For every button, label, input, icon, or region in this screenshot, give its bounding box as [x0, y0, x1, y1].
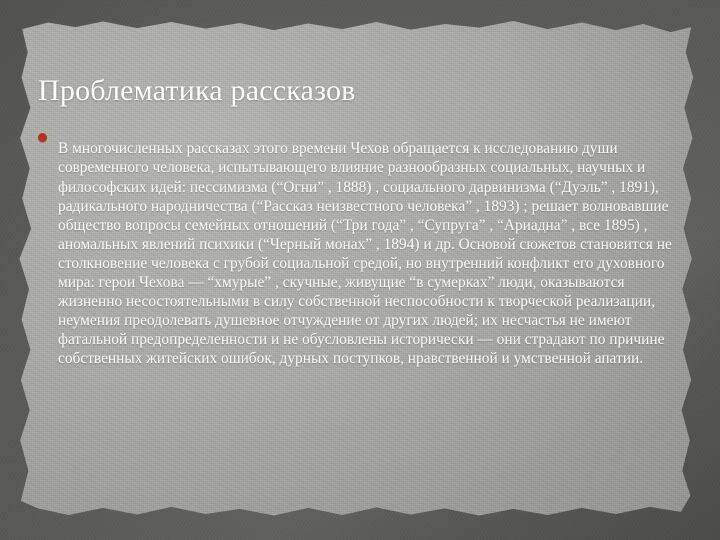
- slide-content: Проблематика рассказов В многочисленных …: [0, 0, 720, 540]
- red-dot-bullet-icon: [38, 133, 47, 142]
- slide-title: Проблематика рассказов: [38, 74, 678, 108]
- body-paragraph: В многочисленных рассказах этого времени…: [58, 139, 688, 368]
- bullet-list-item: В многочисленных рассказах этого времени…: [38, 124, 688, 384]
- presentation-slide: Проблематика рассказов В многочисленных …: [0, 0, 720, 540]
